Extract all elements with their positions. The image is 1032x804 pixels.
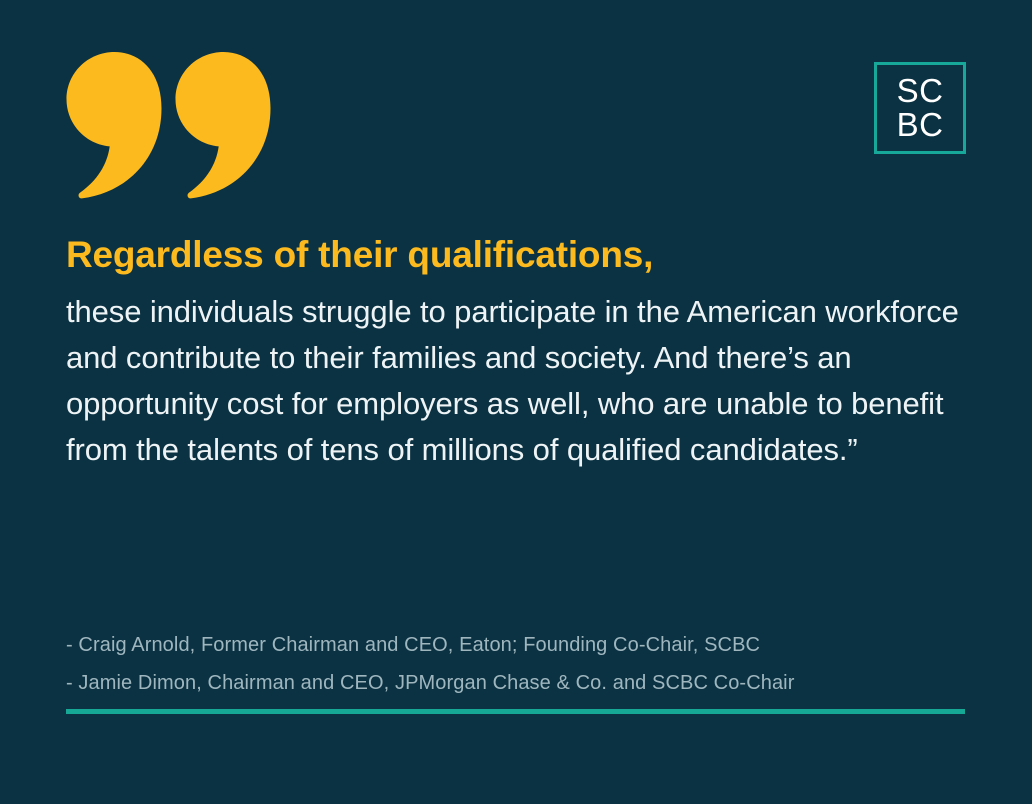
attribution-line: - Craig Arnold, Former Chairman and CEO,… [66, 626, 976, 664]
quote-text: these individuals struggle to participat… [66, 289, 966, 473]
quote-headline: Regardless of their qualifications, [66, 232, 976, 279]
logo-line-2: BC [897, 108, 944, 142]
attribution-block: - Craig Arnold, Former Chairman and CEO,… [66, 626, 976, 702]
quote-card: SC BC Regardless of their qualifications… [0, 0, 1032, 804]
logo-line-1: SC [897, 74, 944, 108]
accent-divider [66, 709, 965, 714]
attribution-line: - Jamie Dimon, Chairman and CEO, JPMorga… [66, 664, 976, 702]
quote-block: Regardless of their qualifications, thes… [66, 232, 976, 473]
double-quotation-mark-icon [66, 52, 271, 200]
scbc-logo: SC BC [874, 62, 966, 154]
